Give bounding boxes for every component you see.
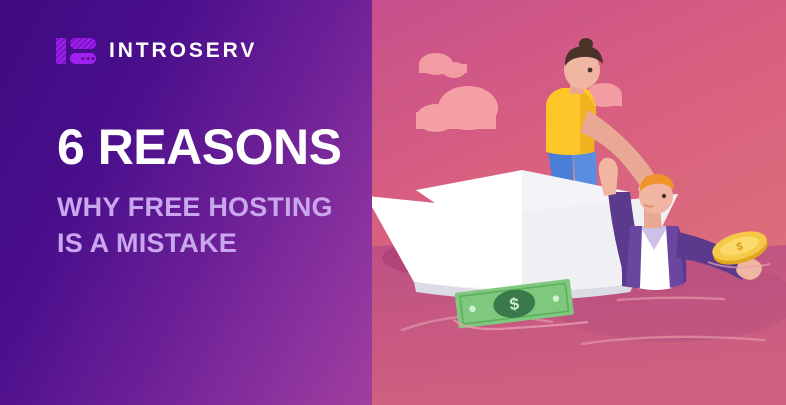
logo-wordmark: INTROSERV: [109, 40, 257, 61]
headline-line-1: 6 REASONS: [57, 122, 341, 172]
illustration-paper-boat-rescue: $ $: [372, 0, 786, 405]
introserv-logo[interactable]: INTROSERV: [55, 30, 257, 70]
headline-line-2: WHY FREE HOSTING: [57, 190, 341, 226]
introserv-server-icon: [55, 30, 97, 70]
headline-line-3: IS A MISTAKE: [57, 226, 341, 262]
promo-banner: $ $: [0, 0, 786, 405]
headline-block: 6 REASONS WHY FREE HOSTING IS A MISTAKE: [57, 122, 341, 262]
